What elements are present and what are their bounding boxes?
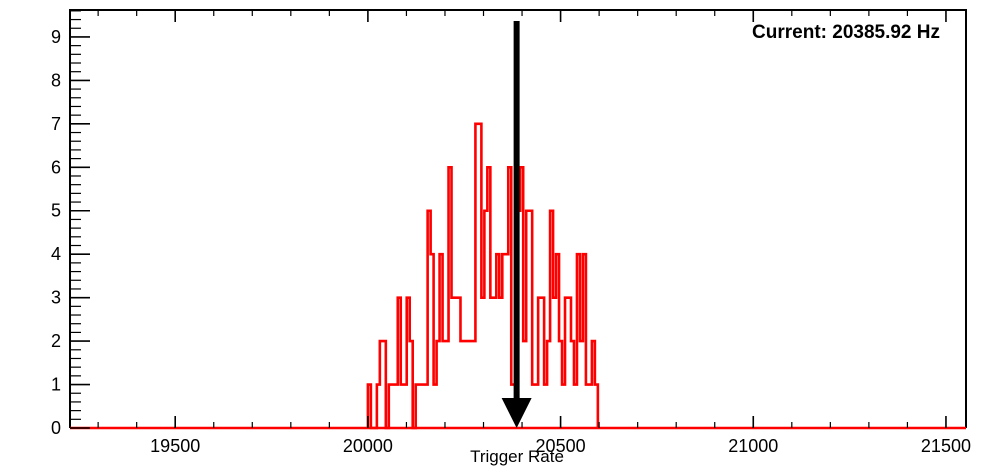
y-tick-label: 1 [51,375,61,395]
y-tick-label: 8 [51,70,61,90]
y-tick-label: 3 [51,288,61,308]
x-tick-label: 21500 [921,436,971,456]
y-tick-label: 4 [51,244,61,264]
trigger-rate-histogram: 1950020000205002100021500 0123456789 Tri… [0,0,996,472]
current-value-annotation: Current: 20385.92 Hz [752,22,940,43]
x-tick-label: 19500 [150,436,200,456]
y-tick-label: 9 [51,27,61,47]
y-tick-label: 2 [51,331,61,351]
x-tick-label: 20000 [343,436,393,456]
y-tick-label: 6 [51,157,61,177]
x-axis-title: Trigger Rate [470,447,564,466]
y-tick-label: 5 [51,201,61,221]
chart-root: 1950020000205002100021500 0123456789 Tri… [0,0,996,472]
x-tick-label: 21000 [728,436,778,456]
y-tick-label: 0 [51,418,61,438]
canvas-background [0,0,996,472]
y-tick-label: 7 [51,114,61,134]
